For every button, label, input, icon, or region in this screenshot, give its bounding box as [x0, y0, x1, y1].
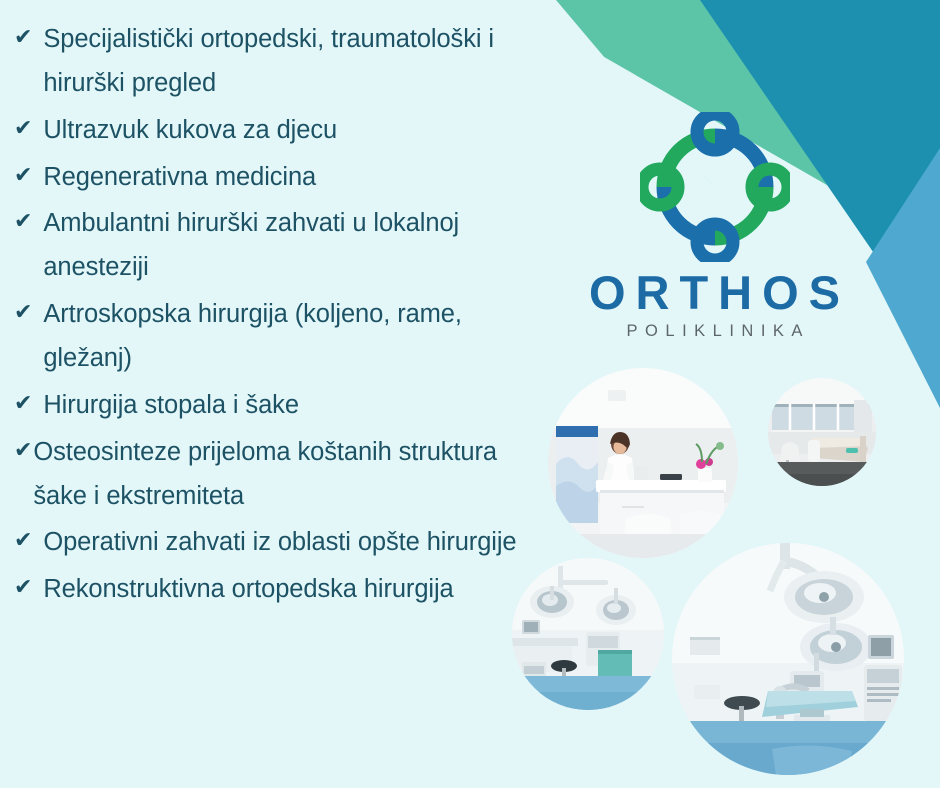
check-icon: ✔ — [14, 521, 43, 559]
check-icon: ✔ — [14, 18, 43, 56]
service-label: Operativni zahvati iz oblasti opšte hiru… — [43, 521, 548, 565]
check-icon: ✔ — [14, 293, 43, 331]
list-item: ✔ Osteosinteze prijeloma koštanih strukt… — [14, 431, 548, 519]
services-list: ✔ Specijalistički ortopedski, traumatolo… — [0, 0, 548, 615]
check-icon: ✔ — [14, 384, 43, 422]
check-icon: ✔ — [14, 431, 33, 469]
check-icon: ✔ — [14, 202, 43, 240]
reception-desk-photo — [548, 368, 738, 558]
service-label: Ultrazvuk kukova za djecu — [43, 109, 548, 153]
list-item: ✔ Operativni zahvati iz oblasti opšte hi… — [14, 521, 548, 565]
service-label: Rekonstruktivna ortopedska hirurgija — [43, 568, 548, 612]
logo-subtitle: POLIKLINIKA — [577, 322, 852, 341]
service-label: Artroskopska hirurgija (koljeno, rame, g… — [43, 293, 548, 381]
service-label: Osteosinteze prijeloma koštanih struktur… — [33, 431, 548, 519]
check-icon: ✔ — [14, 156, 43, 194]
list-item: ✔ Regenerativna medicina — [14, 156, 548, 200]
logo-wordmark: ORTHOS — [577, 268, 852, 317]
check-icon: ✔ — [14, 109, 43, 147]
poster-canvas: ORTHOS POLIKLINIKA ✔ Specijalistički ort… — [0, 0, 940, 788]
list-item: ✔ Ambulantni hirurški zahvati u lokalnoj… — [14, 202, 548, 290]
service-label: Ambulantni hirurški zahvati u lokalnoj a… — [43, 202, 548, 290]
brand-logo: ORTHOS POLIKLINIKA — [577, 112, 852, 341]
list-item: ✔ Rekonstruktivna ortopedska hirurgija — [14, 568, 548, 612]
service-label: Hirurgija stopala i šake — [43, 384, 548, 428]
service-label: Regenerativna medicina — [43, 156, 548, 200]
list-item: ✔ Artroskopska hirurgija (koljeno, rame,… — [14, 293, 548, 381]
list-item: ✔ Ultrazvuk kukova za djecu — [14, 109, 548, 153]
patient-room-photo — [768, 378, 876, 486]
service-label: Specijalistički ortopedski, traumatološk… — [43, 18, 548, 106]
blue-band — [866, 148, 940, 408]
list-item: ✔ Hirurgija stopala i šake — [14, 384, 548, 428]
orthos-ring-icon — [640, 112, 790, 262]
check-icon: ✔ — [14, 568, 43, 606]
operating-room-large-photo — [672, 543, 904, 775]
list-item: ✔ Specijalistički ortopedski, traumatolo… — [14, 18, 548, 106]
